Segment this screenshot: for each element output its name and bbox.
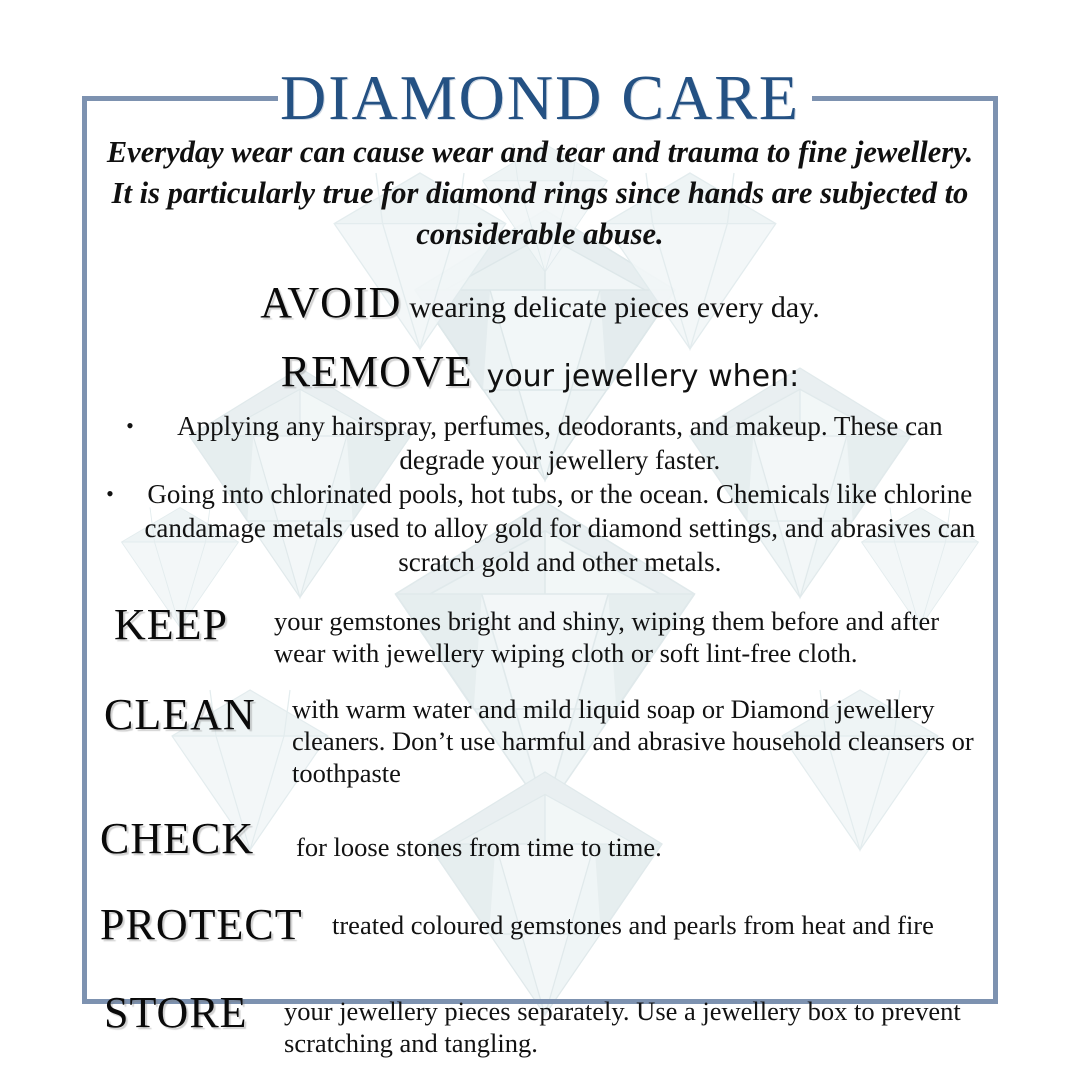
section-protect: PROTECT treated coloured gemstones and p… [92, 901, 988, 949]
section-text: with warm water and mild liquid soap or … [292, 691, 988, 789]
section-store: STORE your jewellery pieces separately. … [92, 989, 988, 1059]
remove-row: REMOVEyour jewellery when: [92, 346, 988, 397]
frame-border-right [993, 96, 998, 1004]
intro-paragraph: Everyday wear can cause wear and tear an… [92, 132, 988, 255]
section-text: your jewellery pieces separately. Use a … [284, 989, 988, 1059]
section-keep: KEEP your gemstones bright and shiny, wi… [92, 601, 988, 669]
list-item: • Going into chlorinated pools, hot tubs… [92, 477, 988, 579]
list-item: • Applying any hairspray, perfumes, deod… [92, 409, 988, 477]
list-item-text: Going into chlorinated pools, hot tubs, … [140, 477, 980, 579]
poster-content: Everyday wear can cause wear and tear an… [92, 132, 988, 1059]
section-keyword: STORE [92, 989, 284, 1037]
remove-bullet-list: • Applying any hairspray, perfumes, deod… [92, 409, 988, 579]
diamond-care-poster: DIAMOND CARE Everyday wear can cause wea… [0, 0, 1080, 1080]
bullet-dot-icon: • [100, 477, 140, 511]
section-check: CHECK for loose stones from time to time… [92, 815, 988, 863]
section-text: treated coloured gemstones and pearls fr… [332, 901, 988, 941]
remove-text: your jewellery when: [473, 359, 800, 394]
remove-keyword: REMOVE [281, 347, 473, 396]
list-item-text: Applying any hairspray, perfumes, deodor… [160, 409, 960, 477]
frame-border-left [82, 96, 87, 1004]
section-keyword: KEEP [92, 601, 274, 649]
section-keyword: PROTECT [92, 901, 332, 949]
section-keyword: CHECK [92, 815, 296, 863]
section-text: your gemstones bright and shiny, wiping … [274, 601, 988, 669]
section-clean: CLEAN with warm water and mild liquid so… [92, 691, 988, 789]
avoid-row: AVOIDwearing delicate pieces every day. [92, 277, 988, 328]
bullet-dot-icon: • [120, 409, 160, 443]
page-title: DIAMOND CARE [0, 62, 1080, 134]
avoid-keyword: AVOID [260, 278, 401, 327]
section-keyword: CLEAN [92, 691, 292, 739]
avoid-text: wearing delicate pieces every day. [401, 291, 819, 324]
section-text: for loose stones from time to time. [296, 815, 988, 863]
